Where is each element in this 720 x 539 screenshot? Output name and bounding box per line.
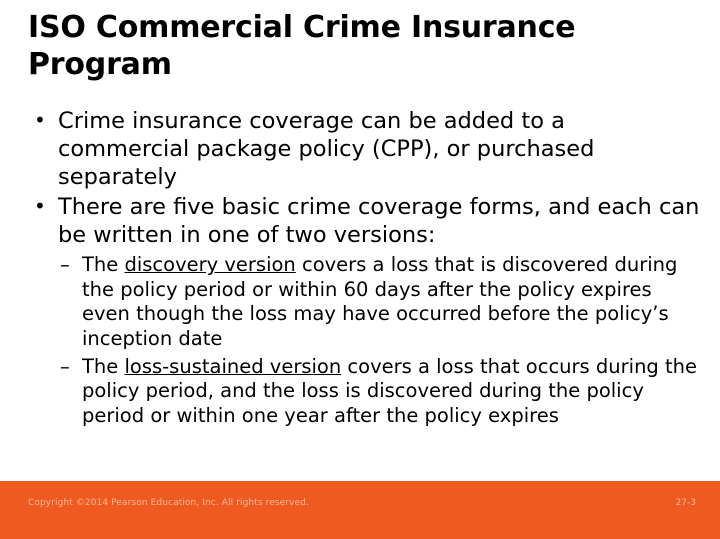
page-title: ISO Commercial Crime Insurance Program <box>28 10 698 83</box>
bullet-marker-icon: • <box>34 108 46 134</box>
slide: ISO Commercial Crime Insurance Program •… <box>0 0 720 539</box>
sub-item-text-underlined: loss-sustained version <box>124 355 341 378</box>
page-number: 27-3 <box>676 498 696 508</box>
sub-item-text-underlined: discovery version <box>124 253 295 276</box>
bullet-list-level1: • Crime insurance coverage can be added … <box>28 108 700 428</box>
list-item-text: There are five basic crime coverage form… <box>58 194 699 248</box>
list-item: • There are five basic crime coverage fo… <box>28 194 700 428</box>
footer-bar: Copyright ©2014 Pearson Education, Inc. … <box>0 481 720 539</box>
sub-item-text-pre: The <box>82 355 124 378</box>
dash-marker-icon: – <box>60 355 70 379</box>
list-item: – The discovery version covers a loss th… <box>58 253 700 351</box>
list-item: • Crime insurance coverage can be added … <box>28 108 700 192</box>
bullet-list-level2: – The discovery version covers a loss th… <box>58 253 700 428</box>
bullet-marker-icon: • <box>34 194 46 220</box>
dash-marker-icon: – <box>60 253 70 277</box>
copyright-text: Copyright ©2014 Pearson Education, Inc. … <box>28 498 309 508</box>
slide-body: • Crime insurance coverage can be added … <box>28 108 700 432</box>
list-item-text: Crime insurance coverage can be added to… <box>58 108 594 190</box>
sub-item-text-pre: The <box>82 253 124 276</box>
list-item: – The loss-sustained version covers a lo… <box>58 355 700 428</box>
